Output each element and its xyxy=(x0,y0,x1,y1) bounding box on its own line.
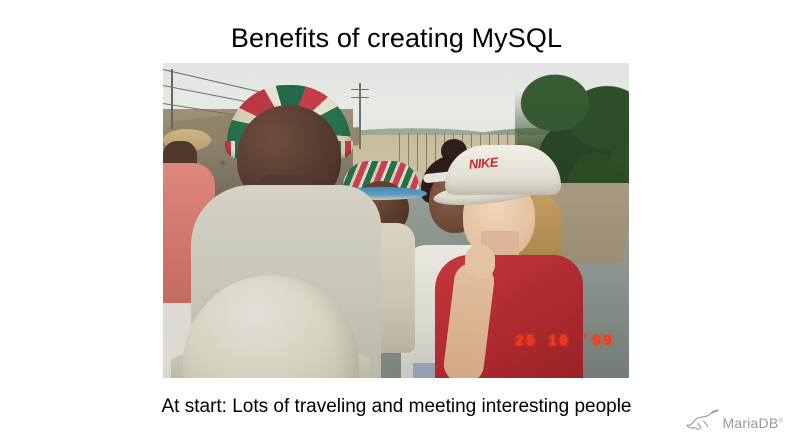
photo-pole-crossarm xyxy=(351,97,369,98)
photo-date-stamp: 25 10 '99 xyxy=(515,333,614,350)
page-title: Benefits of creating MySQL xyxy=(0,22,793,54)
mariadb-seal-icon xyxy=(686,407,720,438)
brand-name-text: MariaDB xyxy=(723,415,779,431)
slide-caption: At start: Lots of traveling and meeting … xyxy=(0,395,793,419)
brand-trademark: ® xyxy=(778,418,783,424)
photo-pole-crossarm xyxy=(351,89,369,90)
slide-photograph: TITANIC NIKE 25 10 '99 xyxy=(163,63,629,378)
photo-utility-pole xyxy=(171,69,173,129)
photo-girl-hand xyxy=(465,245,495,279)
photo-cap-logo-text: NIKE xyxy=(468,153,514,177)
brand-name: MariaDB® xyxy=(723,415,783,431)
brand-logo: MariaDB® xyxy=(686,407,783,438)
photo-utility-pole xyxy=(359,83,361,149)
